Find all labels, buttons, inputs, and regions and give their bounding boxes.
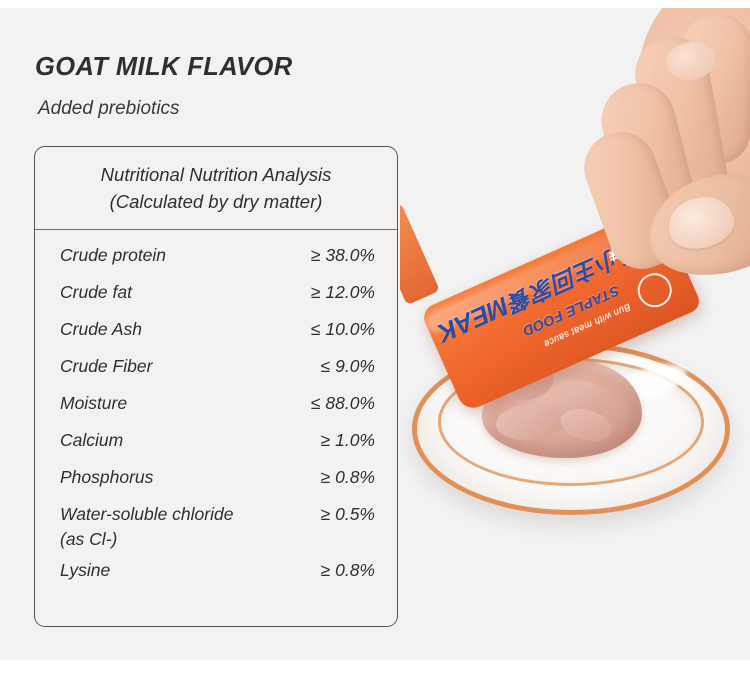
nutrition-card-header-line2: (Calculated by dry matter) — [35, 189, 397, 216]
nutrition-card-header: Nutritional Nutrition Analysis (Calculat… — [35, 147, 397, 216]
table-row: Lysine ≥ 0.8% — [60, 558, 375, 595]
nutrient-value: ≥ 12.0% — [311, 280, 375, 305]
tube-crimp-end — [400, 203, 440, 305]
tube-badge-icon — [632, 268, 677, 313]
nutrient-label-line2: (as Cl-) — [60, 527, 233, 551]
nutrient-label: Calcium — [60, 428, 123, 453]
nutrient-label: Crude fat — [60, 280, 132, 305]
nutrition-rows: Crude protein ≥ 38.0% Crude fat ≥ 12.0% … — [35, 230, 397, 595]
table-row: Crude fat ≥ 12.0% — [60, 280, 375, 317]
nutrition-card: Nutritional Nutrition Analysis (Calculat… — [34, 146, 398, 627]
page-title: GOAT MILK FLAVOR — [35, 53, 293, 82]
table-row: Moisture ≤ 88.0% — [60, 391, 375, 428]
nutrient-label: Lysine — [60, 558, 110, 583]
nutrient-value: ≥ 38.0% — [311, 243, 375, 268]
page-subtitle: Added prebiotics — [38, 98, 180, 120]
nutrient-label: Phosphorus — [60, 465, 153, 490]
nutrient-value: ≥ 0.8% — [321, 465, 375, 490]
nutrition-card-header-line1: Nutritional Nutrition Analysis — [35, 162, 397, 189]
table-row: Phosphorus ≥ 0.8% — [60, 465, 375, 502]
nutrient-label: Moisture — [60, 391, 127, 416]
nutrient-value: ≥ 1.0% — [321, 428, 375, 453]
nutrient-label-line1: Water-soluble chloride — [60, 504, 233, 524]
table-row: Calcium ≥ 1.0% — [60, 428, 375, 465]
table-row: Water-soluble chloride (as Cl-) ≥ 0.5% — [60, 502, 375, 558]
table-row: Crude protein ≥ 38.0% — [60, 243, 375, 280]
product-photo: MEAK 毛小主回家餐 STAPLE FOOD Bun with meat sa… — [400, 8, 750, 660]
nutrient-value: ≤ 9.0% — [321, 354, 375, 379]
nutrient-label: Crude Ash — [60, 317, 142, 342]
nutrient-value: ≥ 0.8% — [321, 558, 375, 583]
nutrient-value: ≤ 10.0% — [311, 317, 375, 342]
nutrient-value: ≥ 0.5% — [321, 502, 375, 527]
nutrient-label: Crude Fiber — [60, 354, 152, 379]
nutrient-value: ≤ 88.0% — [311, 391, 375, 416]
infographic-page: GOAT MILK FLAVOR Added prebiotics Nutrit… — [0, 0, 750, 690]
table-row: Crude Fiber ≤ 9.0% — [60, 354, 375, 391]
nutrient-label: Crude protein — [60, 243, 166, 268]
nutrient-label: Water-soluble chloride (as Cl-) — [60, 502, 233, 551]
table-row: Crude Ash ≤ 10.0% — [60, 317, 375, 354]
